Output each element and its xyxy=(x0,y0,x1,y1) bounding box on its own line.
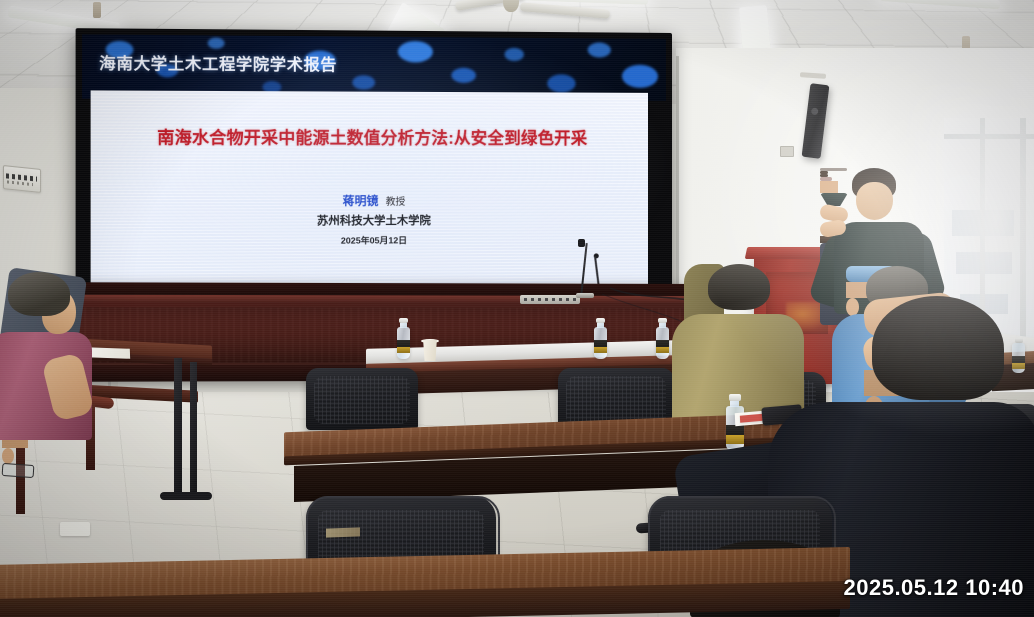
attendee-left xyxy=(2,272,80,477)
table-leg xyxy=(190,362,197,498)
attendee-khaki xyxy=(684,264,730,384)
microphone-base xyxy=(576,293,594,298)
desk-control-strip[interactable] xyxy=(520,295,580,304)
bottle-label xyxy=(726,425,744,444)
attendee-hair xyxy=(8,272,70,316)
attendee-hair xyxy=(708,264,770,310)
bottle-label xyxy=(1012,356,1025,369)
presenter-face xyxy=(856,182,893,220)
bokeh-circle xyxy=(398,41,433,63)
attendee-foreground xyxy=(864,296,956,424)
slide-main-title: 南海水合物开采中能源土数值分析方法:从安全到绿色开采 xyxy=(106,124,636,149)
table-front-row xyxy=(0,556,850,617)
bokeh-circle xyxy=(208,37,225,48)
bottle-label xyxy=(397,340,410,353)
bokeh-circle xyxy=(622,65,658,88)
bokeh-circle xyxy=(451,68,476,83)
slide-speaker-title: 教授 xyxy=(386,197,406,208)
attendee-hair xyxy=(872,296,1004,400)
screen-display-area: 海南大学土木工程学院学术报告 南海水合物开采中能源土数值分析方法:从安全到绿色开… xyxy=(82,34,666,293)
bokeh-circle xyxy=(352,75,375,89)
document-sheet[interactable] xyxy=(326,527,360,537)
bokeh-circle xyxy=(588,42,611,57)
attendee-ear xyxy=(2,448,14,464)
bottle-label xyxy=(656,340,669,353)
lecture-hall-photo: 海南大学土木工程学院学术报告 南海水合物开采中能源土数值分析方法:从安全到绿色开… xyxy=(0,0,1034,617)
bokeh-circle xyxy=(505,48,524,61)
presentation-screen: 海南大学土木工程学院学术报告 南海水合物开采中能源土数值分析方法:从安全到绿色开… xyxy=(76,28,672,300)
chair-label-tag xyxy=(60,522,90,536)
slide-banner-text: 海南大学土木工程学院学术报告 xyxy=(99,51,337,75)
table-leg xyxy=(174,358,182,498)
presenter-neck xyxy=(820,181,838,193)
slide-speaker-name: 蒋明镜 xyxy=(343,196,379,208)
slide-speaker-line: 蒋明镜教授 xyxy=(91,191,648,211)
slide-affiliation: 苏州科技大学土木学院 xyxy=(91,211,648,229)
bottle-cap xyxy=(729,394,741,401)
microphone-head-icon xyxy=(578,239,585,247)
chair-mesh xyxy=(314,376,410,424)
wall-sensor xyxy=(780,146,794,157)
bottle-label xyxy=(594,340,607,353)
bokeh-circle xyxy=(547,74,575,92)
table-foot-rail xyxy=(160,492,212,500)
wall-control-panel[interactable] xyxy=(3,165,41,193)
timestamp-overlay: 2025.05.12 10:40 xyxy=(844,575,1025,601)
ceiling-hanger xyxy=(93,2,101,18)
paper-cup[interactable] xyxy=(422,340,438,361)
slide-body: 南海水合物开采中能源土数值分析方法:从安全到绿色开采 蒋明镜教授 苏州科技大学土… xyxy=(91,90,648,293)
eyeglasses-icon xyxy=(2,463,35,478)
control-panel-labels xyxy=(7,180,33,186)
